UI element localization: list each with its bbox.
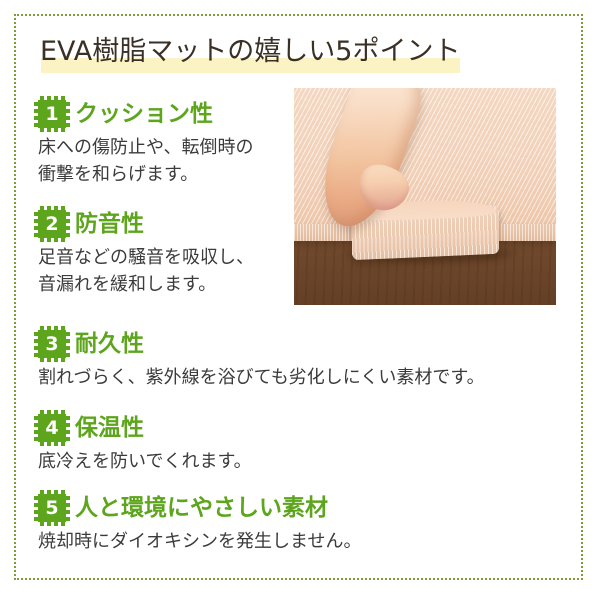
- feature-3-body: 割れづらく、紫外線を浴びても劣化しにくい素材です。: [38, 364, 538, 391]
- feature-3-title: 耐久性: [75, 329, 144, 359]
- badge-number: 2: [38, 210, 66, 238]
- badge-right-teeth-icon: [66, 494, 70, 522]
- feature-2-title: 防音性: [75, 209, 144, 239]
- feature-5-title: 人と環境にやさしい素材: [75, 493, 328, 523]
- feature-1-body: 床への傷防止や、転倒時の 衝撃を和らげます。: [38, 134, 283, 188]
- feature-point-3: 3 耐久性 割れづらく、紫外線を浴びても劣化しにくい素材です。: [38, 328, 538, 391]
- feature-5-body: 焼却時にダイオキシンを発生しません。: [38, 528, 538, 555]
- puzzle-tile-badge-icon: 1: [38, 100, 66, 128]
- title-text: EVA樹脂マットの嬉しい5ポイント: [40, 30, 460, 74]
- badge-number: 3: [38, 330, 66, 358]
- puzzle-tile-badge-icon: 5: [38, 494, 66, 522]
- feature-1-title: クッション性: [75, 99, 213, 129]
- feature-4-title: 保温性: [75, 413, 144, 443]
- feature-2-heading: 2 防音性: [38, 208, 283, 240]
- puzzle-tile-badge-icon: 2: [38, 210, 66, 238]
- badge-number: 1: [38, 100, 66, 128]
- badge-right-teeth-icon: [66, 414, 70, 442]
- puzzle-tile-badge-icon: 4: [38, 414, 66, 442]
- puzzle-tile-badge-icon: 3: [38, 330, 66, 358]
- infographic-canvas: EVA樹脂マットの嬉しい5ポイント 1 クッション性 床への傷防止や、転倒時の …: [0, 0, 600, 600]
- feature-point-2: 2 防音性 足音などの騒音を吸収し、 音漏れを緩和します。: [38, 208, 283, 298]
- feature-2-body: 足音などの騒音を吸収し、 音漏れを緩和します。: [38, 244, 283, 298]
- product-photo: [294, 88, 556, 305]
- feature-point-1: 1 クッション性 床への傷防止や、転倒時の 衝撃を和らげます。: [38, 98, 283, 188]
- feature-point-4: 4 保温性 底冷えを防いでくれます。: [38, 412, 458, 475]
- feature-4-body: 底冷えを防いでくれます。: [38, 448, 458, 475]
- page-title: EVA樹脂マットの嬉しい5ポイント: [40, 30, 510, 78]
- badge-number: 4: [38, 414, 66, 442]
- feature-5-heading: 5 人と環境にやさしい素材: [38, 492, 538, 524]
- badge-number: 5: [38, 494, 66, 522]
- feature-4-heading: 4 保温性: [38, 412, 458, 444]
- feature-3-heading: 3 耐久性: [38, 328, 538, 360]
- feature-point-5: 5 人と環境にやさしい素材 焼却時にダイオキシンを発生しません。: [38, 492, 538, 555]
- badge-right-teeth-icon: [66, 210, 70, 238]
- badge-right-teeth-icon: [66, 100, 70, 128]
- feature-1-heading: 1 クッション性: [38, 98, 283, 130]
- badge-right-teeth-icon: [66, 330, 70, 358]
